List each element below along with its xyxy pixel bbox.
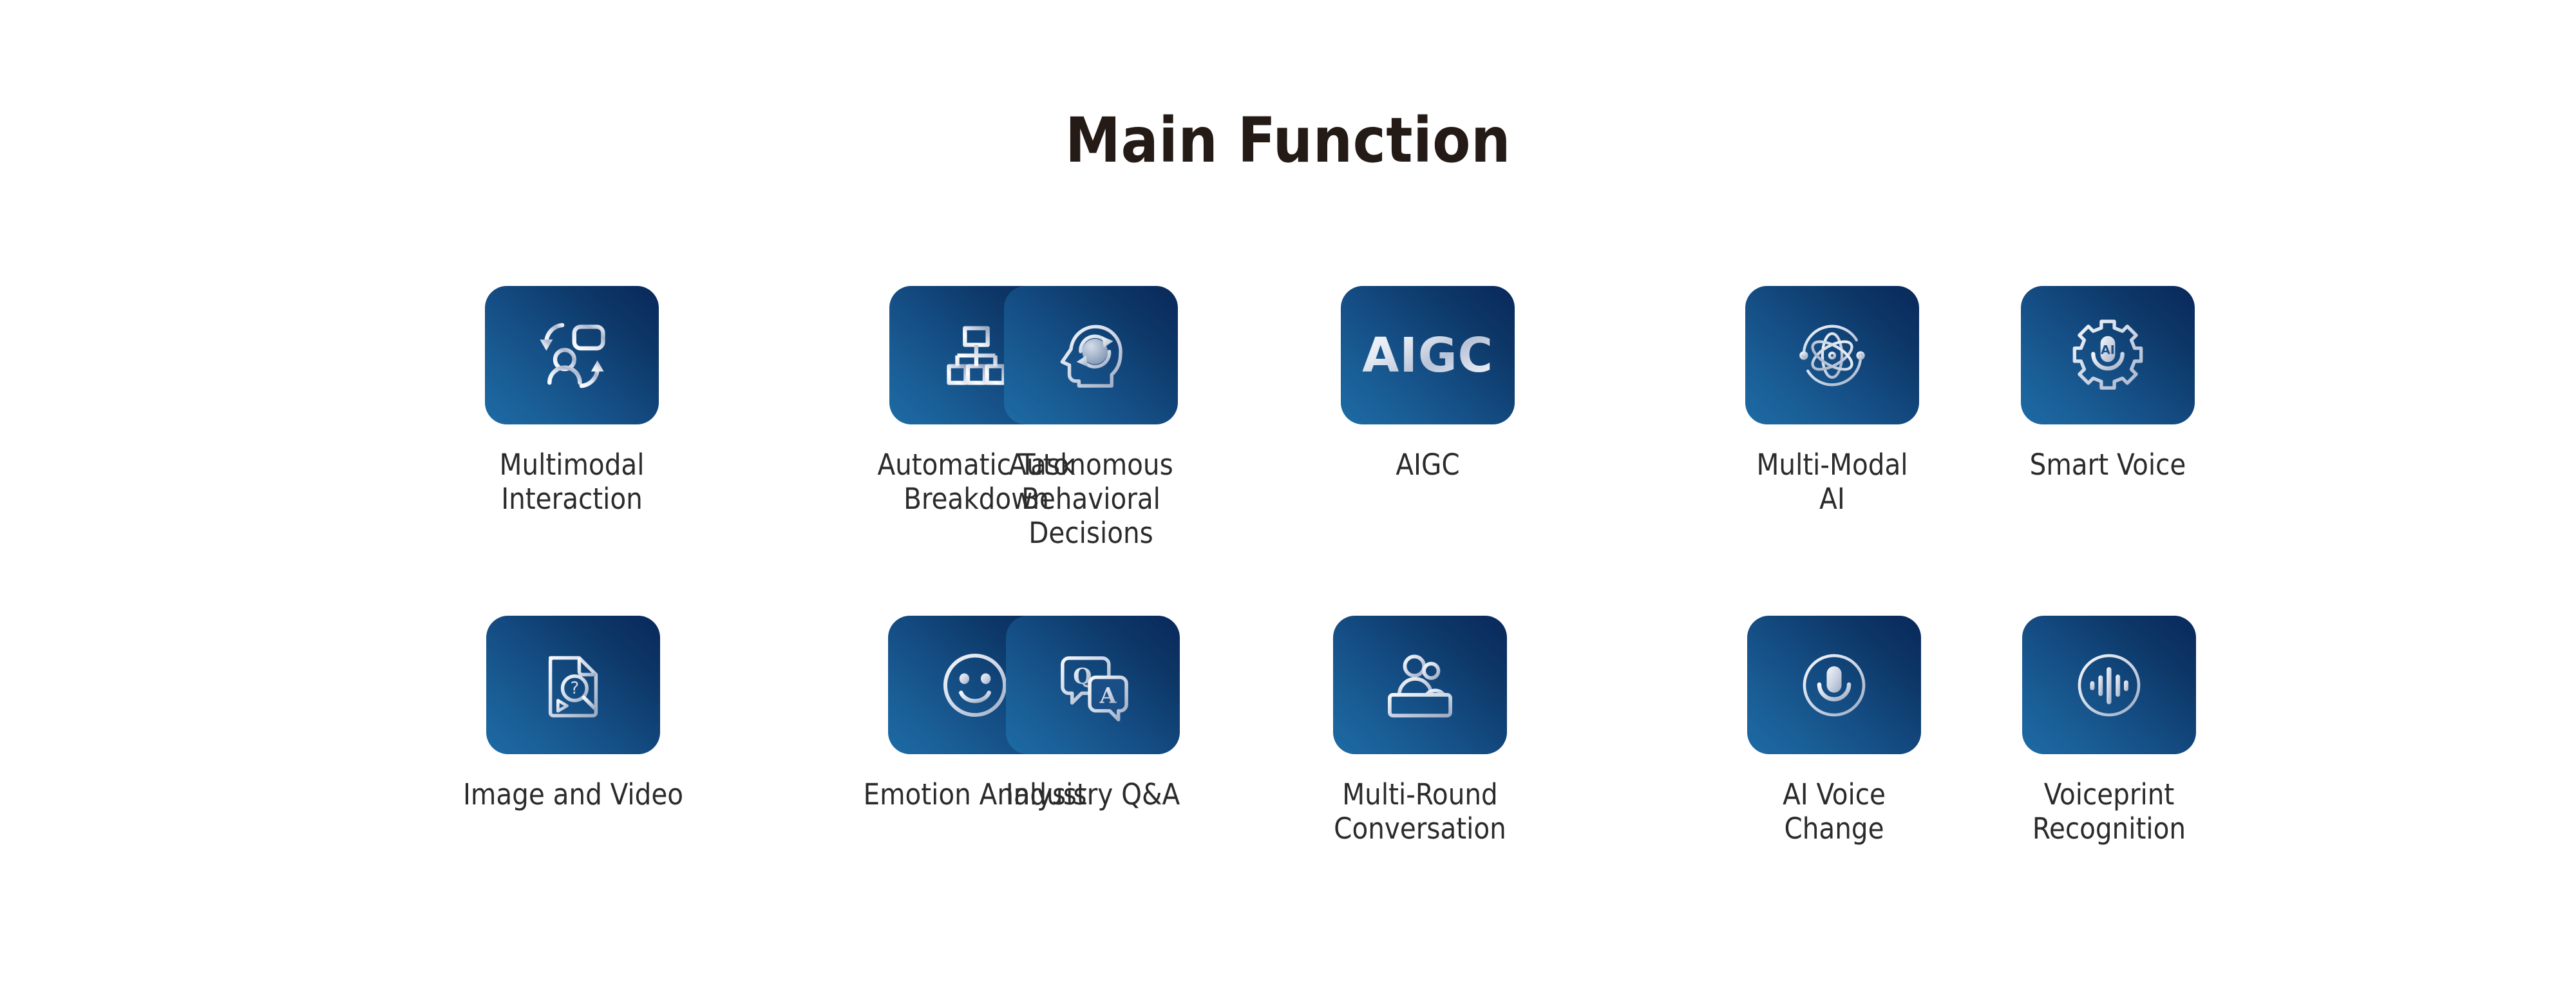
feature-label: Autonomous Behavioral Decisions — [1009, 448, 1173, 550]
voice-waveform-circle-icon — [2068, 644, 2150, 726]
feature-label: Image and Video — [463, 777, 683, 811]
head-refresh-decisions-icon — [1051, 316, 1131, 395]
feature-tile[interactable]: AI — [2021, 286, 2195, 424]
feature-tile[interactable]: Q A — [1006, 616, 1180, 754]
feature-card-multi-round-conversation[interactable]: Multi-Round Conversation — [1278, 616, 1562, 846]
feature-tile[interactable]: AIGC — [1341, 286, 1515, 424]
feature-tile[interactable]: ? — [486, 616, 660, 754]
feature-card-voiceprint-recognition[interactable]: Voiceprint Recognition — [1967, 616, 2251, 846]
a-letter-in-icon: A — [1099, 683, 1117, 708]
svg-text:?: ? — [570, 678, 579, 698]
multimodal-interaction-icon — [532, 316, 612, 395]
feature-card-industry-qa[interactable]: Q A Industry Q&A — [951, 616, 1235, 811]
feature-label: Multimodal Interaction — [500, 448, 645, 516]
feature-tile[interactable] — [2022, 616, 2196, 754]
feature-grid: Multimodal Interaction — [0, 0, 2576, 1006]
atom-icon — [1792, 315, 1873, 396]
qa-speech-bubbles-icon: Q A — [1053, 645, 1133, 725]
feature-card-multi-modal-ai[interactable]: Multi-Modal AI — [1690, 286, 1974, 516]
aigc-text-icon: AIGC — [1362, 332, 1493, 379]
feature-label: Industry Q&A — [1006, 777, 1180, 811]
feature-tile[interactable] — [1004, 286, 1178, 424]
feature-label: AIGC — [1396, 448, 1459, 482]
feature-card-image-and-video[interactable]: ? Image and Video — [431, 616, 715, 811]
feature-label: Voiceprint Recognition — [2032, 777, 2186, 846]
people-panel-icon — [1380, 645, 1460, 725]
feature-card-ai-voice-change[interactable]: AI Voice Change — [1692, 616, 1976, 846]
feature-card-smart-voice[interactable]: AI Smart Voice — [1966, 286, 2249, 482]
feature-label: Multi-Round Conversation — [1334, 777, 1506, 846]
feature-label: Multi-Modal AI — [1756, 448, 1908, 516]
feature-label: Smart Voice — [2030, 448, 2186, 482]
feature-card-autonomous-behavioral-decisions[interactable]: Autonomous Behavioral Decisions — [949, 286, 1233, 550]
gear-microphone-ai-icon: AI — [2067, 315, 2148, 396]
feature-label: AI Voice Change — [1783, 777, 1886, 846]
feature-card-aigc[interactable]: AIGC AIGC — [1286, 286, 1569, 482]
feature-tile[interactable] — [1747, 616, 1921, 754]
microphone-circle-icon — [1793, 644, 1875, 726]
feature-tile[interactable] — [485, 286, 659, 424]
feature-card-multimodal-interaction[interactable]: Multimodal Interaction — [430, 286, 714, 516]
feature-tile[interactable] — [1745, 286, 1919, 424]
feature-tile[interactable] — [1333, 616, 1507, 754]
ai-label-in-icon: AI — [2101, 343, 2115, 357]
main-function-page: Main Function — [0, 0, 2576, 1006]
document-search-play-icon: ? — [535, 647, 611, 723]
